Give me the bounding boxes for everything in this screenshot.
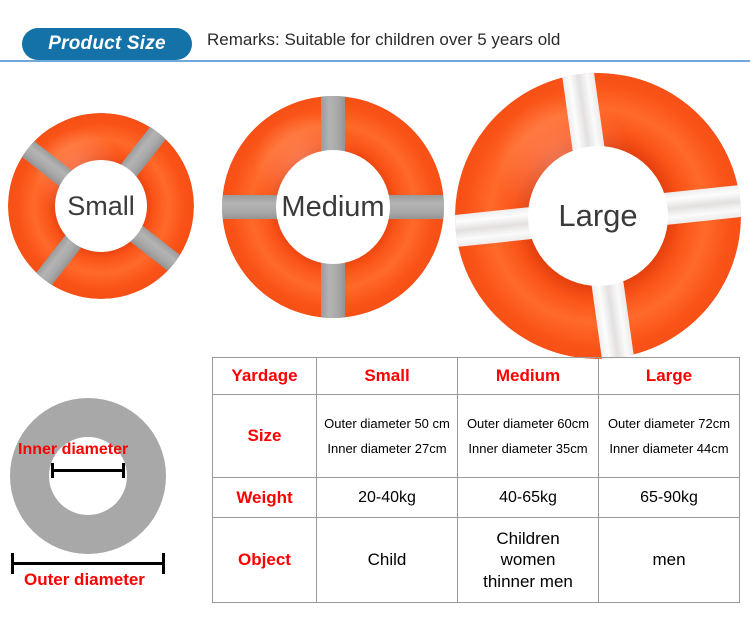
- cell-line: thinner men: [462, 571, 594, 592]
- table-row: Weight 20-40kg 40-65kg 65-90kg: [213, 478, 740, 518]
- outer-diameter-cap-right: [162, 553, 165, 574]
- header-divider: [0, 60, 750, 62]
- table-header-yardage: Yardage: [213, 358, 317, 395]
- cell-line: Outer diameter 50 cm: [321, 411, 453, 436]
- outer-diameter-line: [11, 562, 165, 565]
- outer-diameter-cap-left: [11, 553, 14, 574]
- table-header-large: Large: [599, 358, 740, 395]
- lifering-large-hole: Large: [528, 146, 668, 286]
- cell-object-medium: Children women thinner men: [458, 518, 599, 603]
- lifering-large: Large: [455, 73, 741, 359]
- row-label-object: Object: [213, 518, 317, 603]
- inner-diameter-cap-left: [51, 463, 54, 478]
- cell-line: Inner diameter 35cm: [462, 436, 594, 461]
- cell-line: Outer diameter 60cm: [462, 411, 594, 436]
- cell-weight-medium: 40-65kg: [458, 478, 599, 518]
- header-bar: Product Size Remarks: Suitable for child…: [0, 0, 750, 62]
- cell-line: women: [462, 549, 594, 570]
- cell-line: Outer diameter 72cm: [603, 411, 735, 436]
- product-size-badge: Product Size: [22, 28, 192, 60]
- diameter-diagram: Inner diameter Outer diameter: [0, 398, 200, 598]
- inner-diameter-line: [51, 469, 125, 472]
- cell-object-small: Child: [317, 518, 458, 603]
- lifering-small: Small: [8, 113, 194, 299]
- cell-line: Children: [462, 528, 594, 549]
- inner-diameter-label: Inner diameter: [18, 441, 128, 459]
- cell-line: Inner diameter 27cm: [321, 436, 453, 461]
- cell-size-small: Outer diameter 50 cm Inner diameter 27cm: [317, 395, 458, 478]
- product-size-badge-label: Product Size: [48, 33, 165, 55]
- lifering-medium-label: Medium: [281, 191, 384, 224]
- table-row: Size Outer diameter 50 cm Inner diameter…: [213, 395, 740, 478]
- inner-diameter-cap-right: [122, 463, 125, 478]
- lifering-medium-hole: Medium: [276, 150, 390, 264]
- remarks-text: Remarks: Suitable for children over 5 ye…: [207, 30, 560, 50]
- cell-weight-large: 65-90kg: [599, 478, 740, 518]
- table-header-row: Yardage Small Medium Large: [213, 358, 740, 395]
- cell-object-large: men: [599, 518, 740, 603]
- cell-line: Inner diameter 44cm: [603, 436, 735, 461]
- cell-size-medium: Outer diameter 60cm Inner diameter 35cm: [458, 395, 599, 478]
- row-label-weight: Weight: [213, 478, 317, 518]
- cell-weight-small: 20-40kg: [317, 478, 458, 518]
- lifering-large-label: Large: [558, 198, 637, 234]
- cell-line: Child: [321, 549, 453, 570]
- outer-diameter-label: Outer diameter: [24, 570, 145, 590]
- specification-table: Yardage Small Medium Large Size Outer di…: [212, 357, 740, 603]
- cell-size-large: Outer diameter 72cm Inner diameter 44cm: [599, 395, 740, 478]
- lifering-small-label: Small: [67, 191, 135, 222]
- lifering-small-hole: Small: [55, 160, 147, 252]
- table-header-medium: Medium: [458, 358, 599, 395]
- row-label-size: Size: [213, 395, 317, 478]
- table-row: Object Child Children women thinner men …: [213, 518, 740, 603]
- table-header-small: Small: [317, 358, 458, 395]
- cell-line: men: [603, 549, 735, 570]
- lifering-medium: Medium: [222, 96, 444, 318]
